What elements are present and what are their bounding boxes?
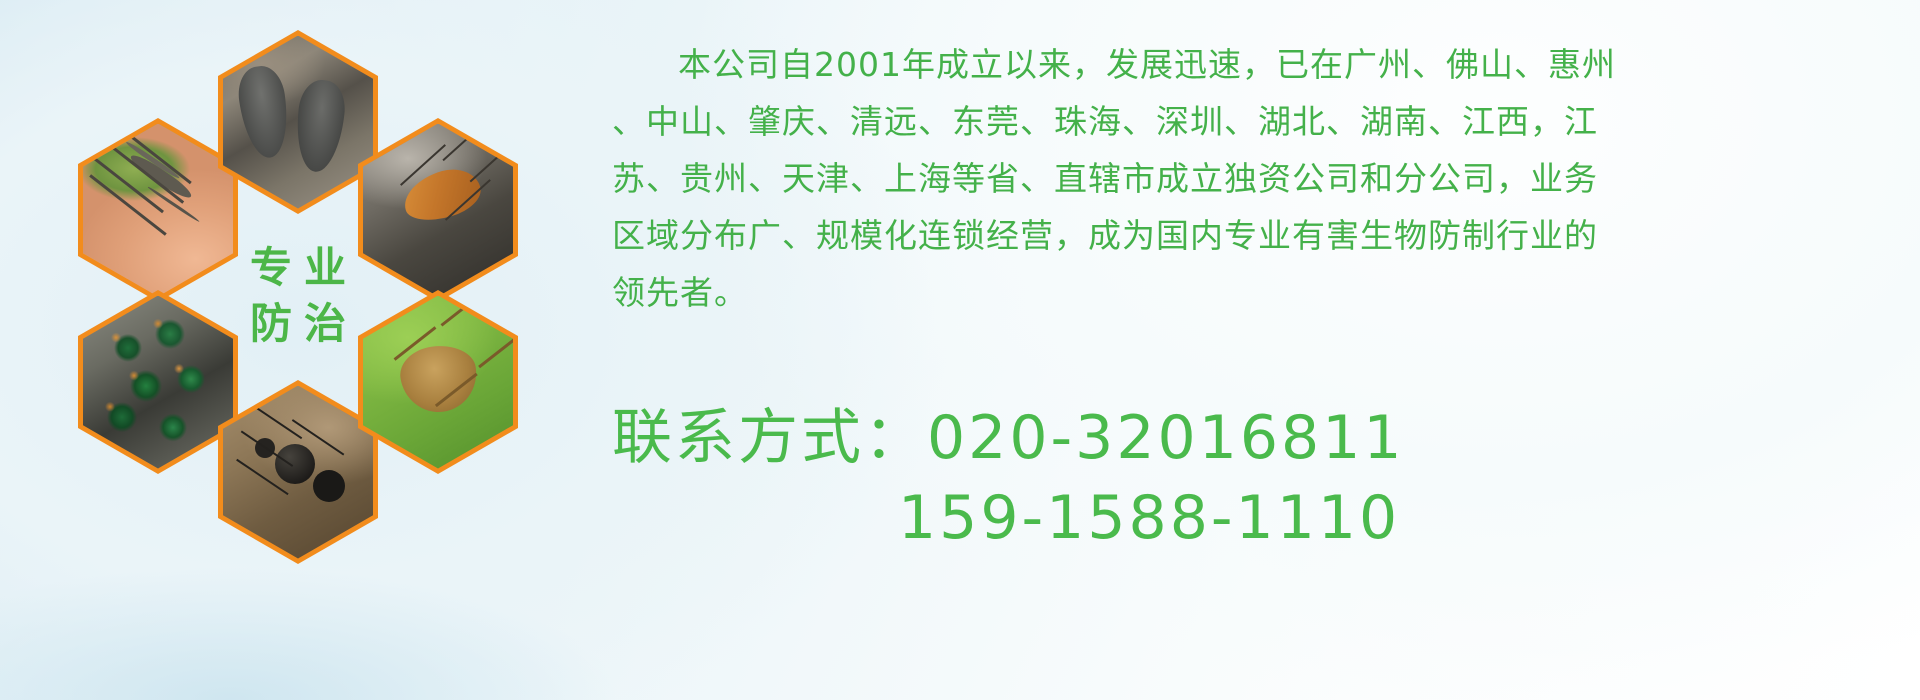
intro-line-4: 区域分布广、规模化连锁经营，成为国内专业有害生物防制行业的	[612, 207, 1892, 264]
contact-block: 联系方式：020-32016811 159-1588-1110	[612, 398, 1892, 558]
hex-inner-rats	[223, 36, 373, 209]
badge-line-2: 防治	[238, 303, 358, 345]
fly-icon	[83, 296, 233, 469]
contact-phone-primary[interactable]: 020-32016811	[927, 403, 1405, 473]
hex-inner-cockroach	[363, 124, 513, 297]
hex-cell-mosquito	[78, 118, 238, 302]
contact-label: 联系方式：	[612, 403, 927, 473]
intro-line-5: 领先者。	[612, 264, 1892, 321]
company-intro-text: 本公司自2001年成立以来，发展迅速，已在广州、佛山、惠州 、中山、肇庆、清远、…	[612, 36, 1892, 321]
ant-icon	[223, 386, 373, 559]
hex-cell-cockroach	[358, 118, 518, 302]
contact-phone-primary-row: 联系方式：020-32016811	[612, 398, 1892, 478]
stink-bug-icon	[363, 296, 513, 469]
hex-inner-ant	[223, 386, 373, 559]
badge-text-block: 专业 防治	[218, 204, 378, 388]
intro-line-2: 、中山、肇庆、清远、东莞、珠海、深圳、湖北、湖南、江西，江	[612, 93, 1892, 150]
hex-inner-stink-bug	[363, 296, 513, 469]
hex-cell-rats	[218, 30, 378, 214]
hex-cell-ant	[218, 380, 378, 564]
contact-phone-secondary[interactable]: 159-1588-1110	[612, 478, 1892, 558]
hex-cell-stink-bug	[358, 290, 518, 474]
mosquito-icon	[83, 124, 233, 297]
rat-icon	[223, 36, 373, 209]
promo-banner: 专业 防治 本公司自2001年成立以来，发展迅速，已在广州、佛山、惠州 、中山、…	[0, 0, 1920, 700]
hex-inner-flies	[83, 296, 233, 469]
intro-line-3: 苏、贵州、天津、上海等省、直辖市成立独资公司和分公司，业务	[612, 150, 1892, 207]
hex-inner-mosquito	[83, 124, 233, 297]
cockroach-icon	[363, 124, 513, 297]
intro-line-1: 本公司自2001年成立以来，发展迅速，已在广州、佛山、惠州	[612, 36, 1892, 93]
hex-cell-flies	[78, 290, 238, 474]
hex-photo-cluster: 专业 防治	[78, 8, 578, 548]
badge-line-1: 专业	[238, 247, 358, 289]
